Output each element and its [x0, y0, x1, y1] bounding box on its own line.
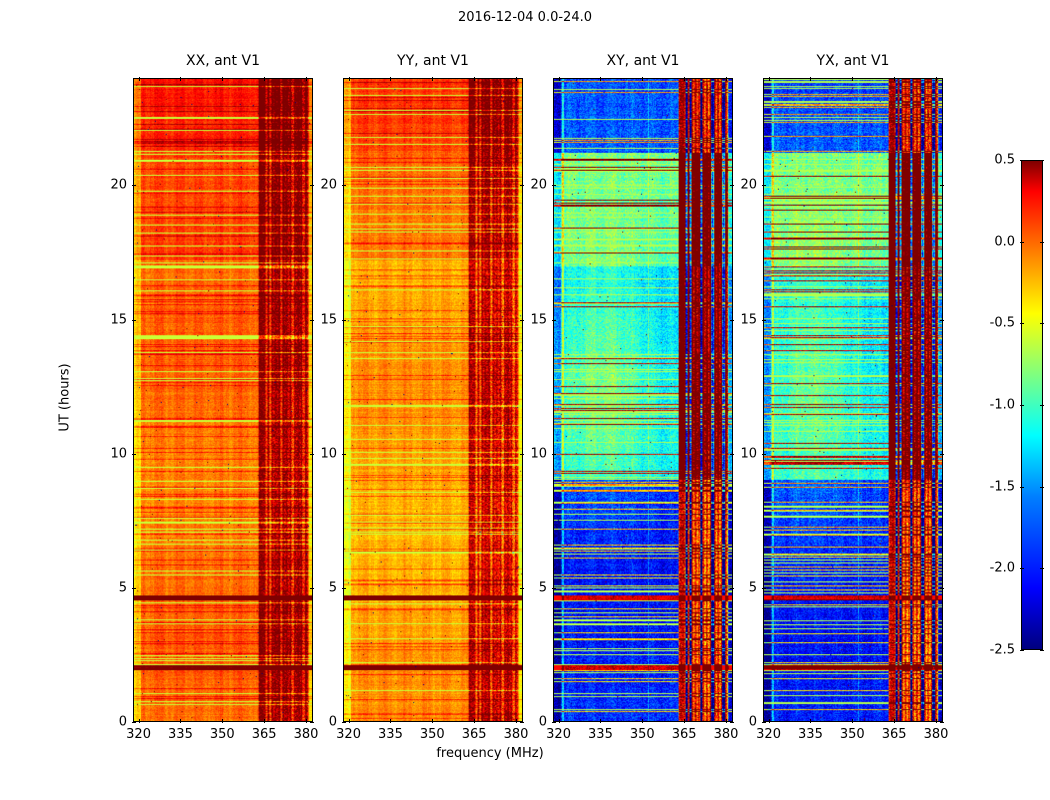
y-tick-label: 20 — [110, 178, 127, 193]
x-tick-label: 350 — [630, 727, 655, 742]
panel-title-xy: XY, ant V1 — [553, 53, 733, 69]
y-tick-label: 20 — [320, 178, 337, 193]
colorbar-tick-right — [1040, 405, 1044, 406]
x-tick-top — [726, 77, 727, 81]
y-tick — [552, 454, 556, 455]
figure-suptitle: 2016-12-04 0.0-24.0 — [0, 10, 1050, 25]
x-tick — [432, 719, 433, 723]
y-tick-right — [940, 320, 944, 321]
x-tick-label: 320 — [336, 727, 361, 742]
y-tick-right — [520, 185, 524, 186]
colorbar-tick-label: -1.0 — [990, 398, 1015, 413]
colorbar-tick — [1020, 242, 1024, 243]
y-tick — [342, 588, 346, 589]
colorbar-tick — [1020, 405, 1024, 406]
y-tick-right — [730, 185, 734, 186]
panel-xx: XX, ant V132033535036538005101520 — [133, 78, 313, 722]
panel-yy: YY, ant V132033535036538005101520 — [343, 78, 523, 722]
dynamic-spectrum-yx — [764, 79, 942, 721]
y-tick-right — [310, 722, 314, 723]
y-tick — [132, 320, 136, 321]
y-tick — [132, 185, 136, 186]
x-tick-label: 350 — [420, 727, 445, 742]
y-tick-label: 10 — [530, 446, 547, 461]
x-tick-top — [432, 77, 433, 81]
y-tick — [132, 722, 136, 723]
x-tick-top — [516, 77, 517, 81]
y-tick-right — [310, 588, 314, 589]
y-tick-label: 15 — [530, 312, 547, 327]
x-tick-top — [390, 77, 391, 81]
x-tick-label: 365 — [252, 727, 277, 742]
colorbar-tick-right — [1040, 487, 1044, 488]
x-tick — [390, 719, 391, 723]
x-tick-label: 365 — [672, 727, 697, 742]
x-tick — [894, 719, 895, 723]
y-tick-label: 0 — [749, 715, 757, 730]
x-tick-top — [769, 77, 770, 81]
y-tick-right — [730, 320, 734, 321]
x-tick-top — [894, 77, 895, 81]
dynamic-spectrum-yy — [344, 79, 522, 721]
y-tick — [342, 320, 346, 321]
x-tick-top — [222, 77, 223, 81]
y-tick-right — [310, 320, 314, 321]
y-tick — [762, 588, 766, 589]
colorbar-tick — [1020, 487, 1024, 488]
y-tick — [132, 588, 136, 589]
x-tick-label: 365 — [882, 727, 907, 742]
y-tick — [552, 588, 556, 589]
y-axis-label: UT (hours) — [58, 338, 73, 458]
x-tick-label: 380 — [924, 727, 949, 742]
panel-title-xx: XX, ant V1 — [133, 53, 313, 69]
x-tick-top — [684, 77, 685, 81]
x-tick-label: 320 — [756, 727, 781, 742]
dynamic-spectrum-xy — [554, 79, 732, 721]
y-tick-right — [730, 454, 734, 455]
x-tick — [474, 719, 475, 723]
y-tick — [342, 185, 346, 186]
colorbar-tick-label: -1.5 — [990, 479, 1015, 494]
x-tick-top — [642, 77, 643, 81]
colorbar-tick — [1020, 568, 1024, 569]
x-tick-top — [306, 77, 307, 81]
x-tick-top — [936, 77, 937, 81]
colorbar-tick-right — [1040, 568, 1044, 569]
x-tick — [810, 719, 811, 723]
y-tick-label: 5 — [539, 580, 547, 595]
y-tick — [762, 320, 766, 321]
axes-xx[interactable] — [133, 78, 313, 722]
x-tick — [559, 719, 560, 723]
colorbar-tick — [1020, 160, 1024, 161]
y-tick — [552, 320, 556, 321]
y-tick-right — [520, 722, 524, 723]
colorbar-tick — [1020, 650, 1024, 651]
y-tick — [552, 185, 556, 186]
y-tick-label: 0 — [539, 715, 547, 730]
colorbar[interactable]: -2.5-2.0-1.5-1.0-0.50.00.5 log10 amplitu… — [1021, 160, 1043, 650]
y-tick-label: 15 — [110, 312, 127, 327]
y-tick-right — [520, 454, 524, 455]
x-tick — [642, 719, 643, 723]
colorbar-tick-label: 0.0 — [994, 234, 1015, 249]
y-tick-label: 5 — [749, 580, 757, 595]
y-tick-right — [730, 588, 734, 589]
y-tick-right — [520, 320, 524, 321]
x-tick — [852, 719, 853, 723]
y-tick-right — [310, 454, 314, 455]
y-tick — [342, 722, 346, 723]
y-tick-label: 10 — [740, 446, 757, 461]
y-tick-label: 20 — [530, 178, 547, 193]
x-tick-top — [139, 77, 140, 81]
y-tick-label: 20 — [740, 178, 757, 193]
figure-canvas: 2016-12-04 0.0-24.0 XX, ant V13203353503… — [0, 0, 1050, 800]
x-tick-label: 335 — [588, 727, 613, 742]
x-tick-top — [852, 77, 853, 81]
colorbar-tick-label: -0.5 — [990, 316, 1015, 331]
x-tick — [306, 719, 307, 723]
panel-title-yy: YY, ant V1 — [343, 53, 523, 69]
colorbar-tick-label: -2.5 — [990, 643, 1015, 658]
colorbar-tick — [1020, 323, 1024, 324]
x-tick-label: 380 — [714, 727, 739, 742]
x-tick-top — [474, 77, 475, 81]
colorbar-tick-label: 0.5 — [994, 153, 1015, 168]
x-tick — [684, 719, 685, 723]
axes-yx[interactable] — [763, 78, 943, 722]
x-tick — [180, 719, 181, 723]
y-tick — [132, 454, 136, 455]
y-tick-label: 5 — [119, 580, 127, 595]
panel-xy: XY, ant V132033535036538005101520 — [553, 78, 733, 722]
x-tick-top — [600, 77, 601, 81]
y-tick-label: 10 — [320, 446, 337, 461]
x-tick — [516, 719, 517, 723]
x-tick-label: 320 — [546, 727, 571, 742]
y-tick-right — [940, 722, 944, 723]
dynamic-spectrum-xx — [134, 79, 312, 721]
x-tick-label: 320 — [126, 727, 151, 742]
y-tick-label: 0 — [329, 715, 337, 730]
colorbar-tick-right — [1040, 242, 1044, 243]
y-tick-label: 0 — [119, 715, 127, 730]
y-tick-right — [940, 588, 944, 589]
colorbar-tick-label: -2.0 — [990, 561, 1015, 576]
x-tick-label: 380 — [294, 727, 319, 742]
x-tick — [139, 719, 140, 723]
axes-xy[interactable] — [553, 78, 733, 722]
x-tick — [726, 719, 727, 723]
y-tick-right — [730, 722, 734, 723]
y-tick-label: 15 — [740, 312, 757, 327]
x-tick-label: 335 — [168, 727, 193, 742]
x-tick — [349, 719, 350, 723]
x-tick-label: 350 — [840, 727, 865, 742]
colorbar-tick-right — [1040, 160, 1044, 161]
x-tick-top — [349, 77, 350, 81]
y-tick-right — [520, 588, 524, 589]
colorbar-tick-right — [1040, 650, 1044, 651]
y-tick-right — [940, 185, 944, 186]
x-tick — [769, 719, 770, 723]
y-tick-label: 10 — [110, 446, 127, 461]
y-tick — [762, 454, 766, 455]
x-axis-label: frequency (MHz) — [380, 746, 600, 761]
x-tick — [264, 719, 265, 723]
y-tick — [762, 722, 766, 723]
x-tick-top — [810, 77, 811, 81]
colorbar-tick-right — [1040, 323, 1044, 324]
y-tick-label: 15 — [320, 312, 337, 327]
y-tick — [342, 454, 346, 455]
y-tick — [762, 185, 766, 186]
x-tick — [222, 719, 223, 723]
x-tick-top — [559, 77, 560, 81]
x-tick-label: 380 — [504, 727, 529, 742]
panel-yx: YX, ant V132033535036538005101520 — [763, 78, 943, 722]
y-tick-right — [310, 185, 314, 186]
panel-title-yx: YX, ant V1 — [763, 53, 943, 69]
x-tick-label: 350 — [210, 727, 235, 742]
x-tick-label: 365 — [462, 727, 487, 742]
y-tick-right — [940, 454, 944, 455]
y-tick — [552, 722, 556, 723]
x-tick-label: 335 — [378, 727, 403, 742]
x-tick — [936, 719, 937, 723]
axes-yy[interactable] — [343, 78, 523, 722]
y-tick-label: 5 — [329, 580, 337, 595]
x-tick — [600, 719, 601, 723]
x-tick-top — [180, 77, 181, 81]
x-tick-top — [264, 77, 265, 81]
x-tick-label: 335 — [798, 727, 823, 742]
